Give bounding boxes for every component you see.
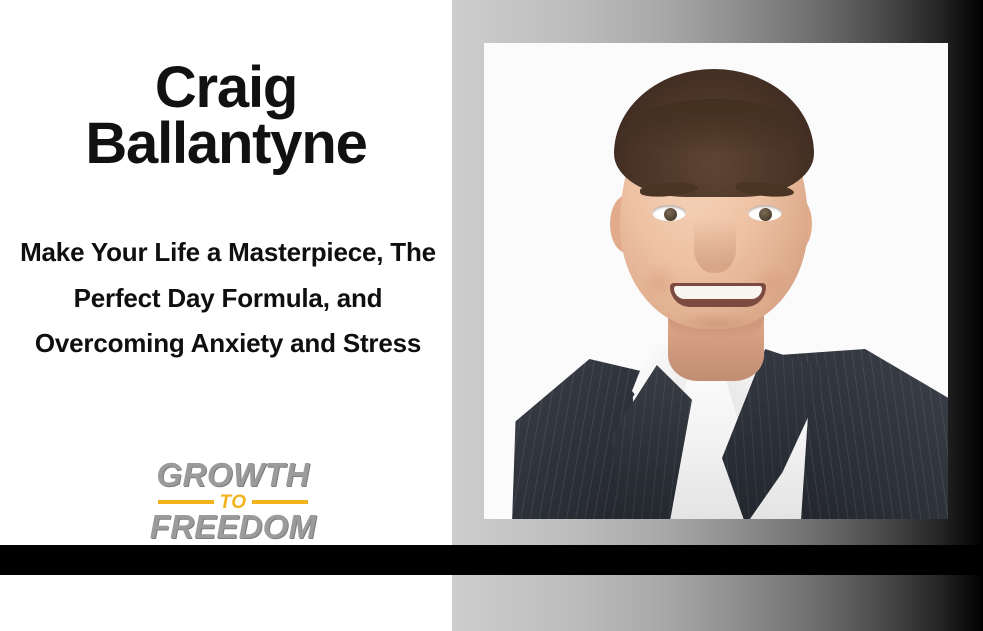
episode-cover-canvas: Craig Ballantyne Make Your Life a Master… (0, 0, 983, 631)
hair-fringe (634, 99, 794, 153)
portrait-illustration (484, 43, 948, 519)
guest-photo-frame (484, 43, 948, 519)
episode-title: Make Your Life a Masterpiece, The Perfec… (10, 230, 446, 367)
iris-right (759, 208, 772, 221)
teeth (674, 286, 762, 299)
logo-word-growth: GROWTH (140, 458, 326, 491)
logo-rule-left (158, 500, 214, 504)
chin (674, 311, 760, 337)
logo-rule-right (252, 500, 308, 504)
guest-photo (484, 43, 948, 519)
bottom-accent-bar (0, 545, 983, 575)
iris-left (664, 208, 677, 221)
growth-to-freedom-logo[interactable]: GROWTH TO FREEDOM (140, 458, 326, 536)
left-content-pane: Craig Ballantyne Make Your Life a Master… (0, 0, 452, 631)
mouth (670, 283, 766, 307)
guest-name: Craig Ballantyne (0, 60, 452, 171)
nose (694, 219, 736, 273)
logo-word-freedom: FREEDOM (140, 510, 326, 543)
